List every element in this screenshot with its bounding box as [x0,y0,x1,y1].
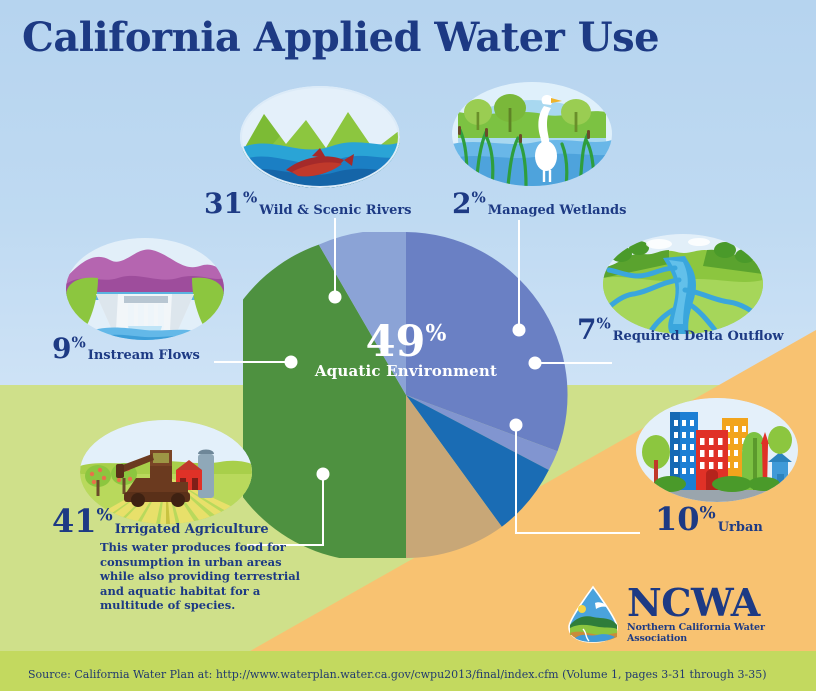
callout-wetlands: 2% Managed Wetlands [452,190,626,218]
callout-wetlands-label: Managed Wetlands [488,203,627,218]
logo-subtitle: Northern California Water Association [627,622,805,644]
callout-instream-percent: 9% [52,335,86,363]
callout-agriculture: 41% Irrigated Agriculture This water pro… [52,505,315,613]
ncwa-logo: NCWA Northern California Water Associati… [565,583,805,645]
callout-urban-label: Urban [718,520,763,535]
callout-rivers: 31% Wild & Scenic Rivers [204,190,412,218]
callout-agriculture-label: Irrigated Agriculture [115,522,269,537]
callout-rivers-label: Wild & Scenic Rivers [259,203,411,218]
infographic-canvas: California Applied Water Use 49% Aquatic… [0,0,816,691]
callout-urban-percent: 10% [655,503,716,535]
river-mountains-salmon-icon [240,86,400,188]
source-citation: Source: California Water Plan at: http:/… [28,668,767,681]
callout-agriculture-percent: 41% [52,505,113,537]
callout-delta-label: Required Delta Outflow [613,329,784,344]
callout-wetlands-percent: 2% [452,190,486,218]
callout-urban: 10% Urban [655,503,763,535]
callout-agriculture-description: This water produces food for consumption… [100,540,315,613]
callout-rivers-percent: 31% [204,190,257,218]
page-title: California Applied Water Use [22,14,659,61]
logo-name: NCWA [627,585,805,621]
dam-spillway-icon [66,238,224,340]
callout-delta: 7% Required Delta Outflow [577,316,784,344]
callout-instream-label: Instream Flows [88,348,200,363]
egret-marsh-icon [452,82,612,186]
callout-instream: 9% Instream Flows [52,335,200,363]
water-drop-landscape-icon [565,585,621,643]
city-skyline-icon [636,398,798,502]
callout-delta-percent: 7% [577,316,611,344]
